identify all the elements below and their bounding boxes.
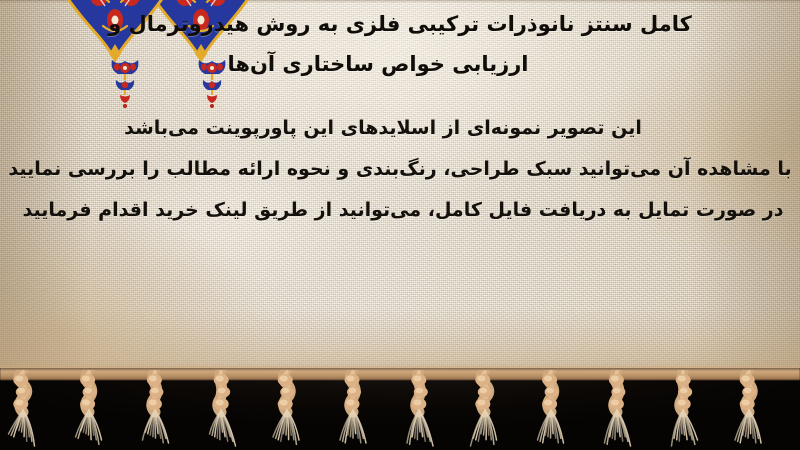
title-line-2: ارزیابی خواص ساختاری آن‌ها <box>40 44 716 84</box>
slide-text-area: کامل سنتز نانوذرات ترکیبی فلزی به روش هی… <box>0 0 800 378</box>
body-line-1: این تصویر نمونه‌ای از اسلایدهای این پاور… <box>0 108 766 149</box>
slide-title: کامل سنتز نانوذرات ترکیبی فلزی به روش هی… <box>40 4 800 84</box>
slide-canvas: کامل سنتز نانوذرات ترکیبی فلزی به روش هی… <box>0 0 800 450</box>
slide-body: این تصویر نمونه‌ای از اسلایدهای این پاور… <box>0 108 800 231</box>
body-line-3: در صورت تمایل به دریافت فایل کامل، می‌تو… <box>0 190 800 231</box>
title-line-1: کامل سنتز نانوذرات ترکیبی فلزی به روش هی… <box>40 4 760 44</box>
body-line-2: با مشاهده آن می‌توانید سبک طراحی، رنگ‌بن… <box>0 149 800 190</box>
carpet-bottom-black-band <box>0 368 800 450</box>
